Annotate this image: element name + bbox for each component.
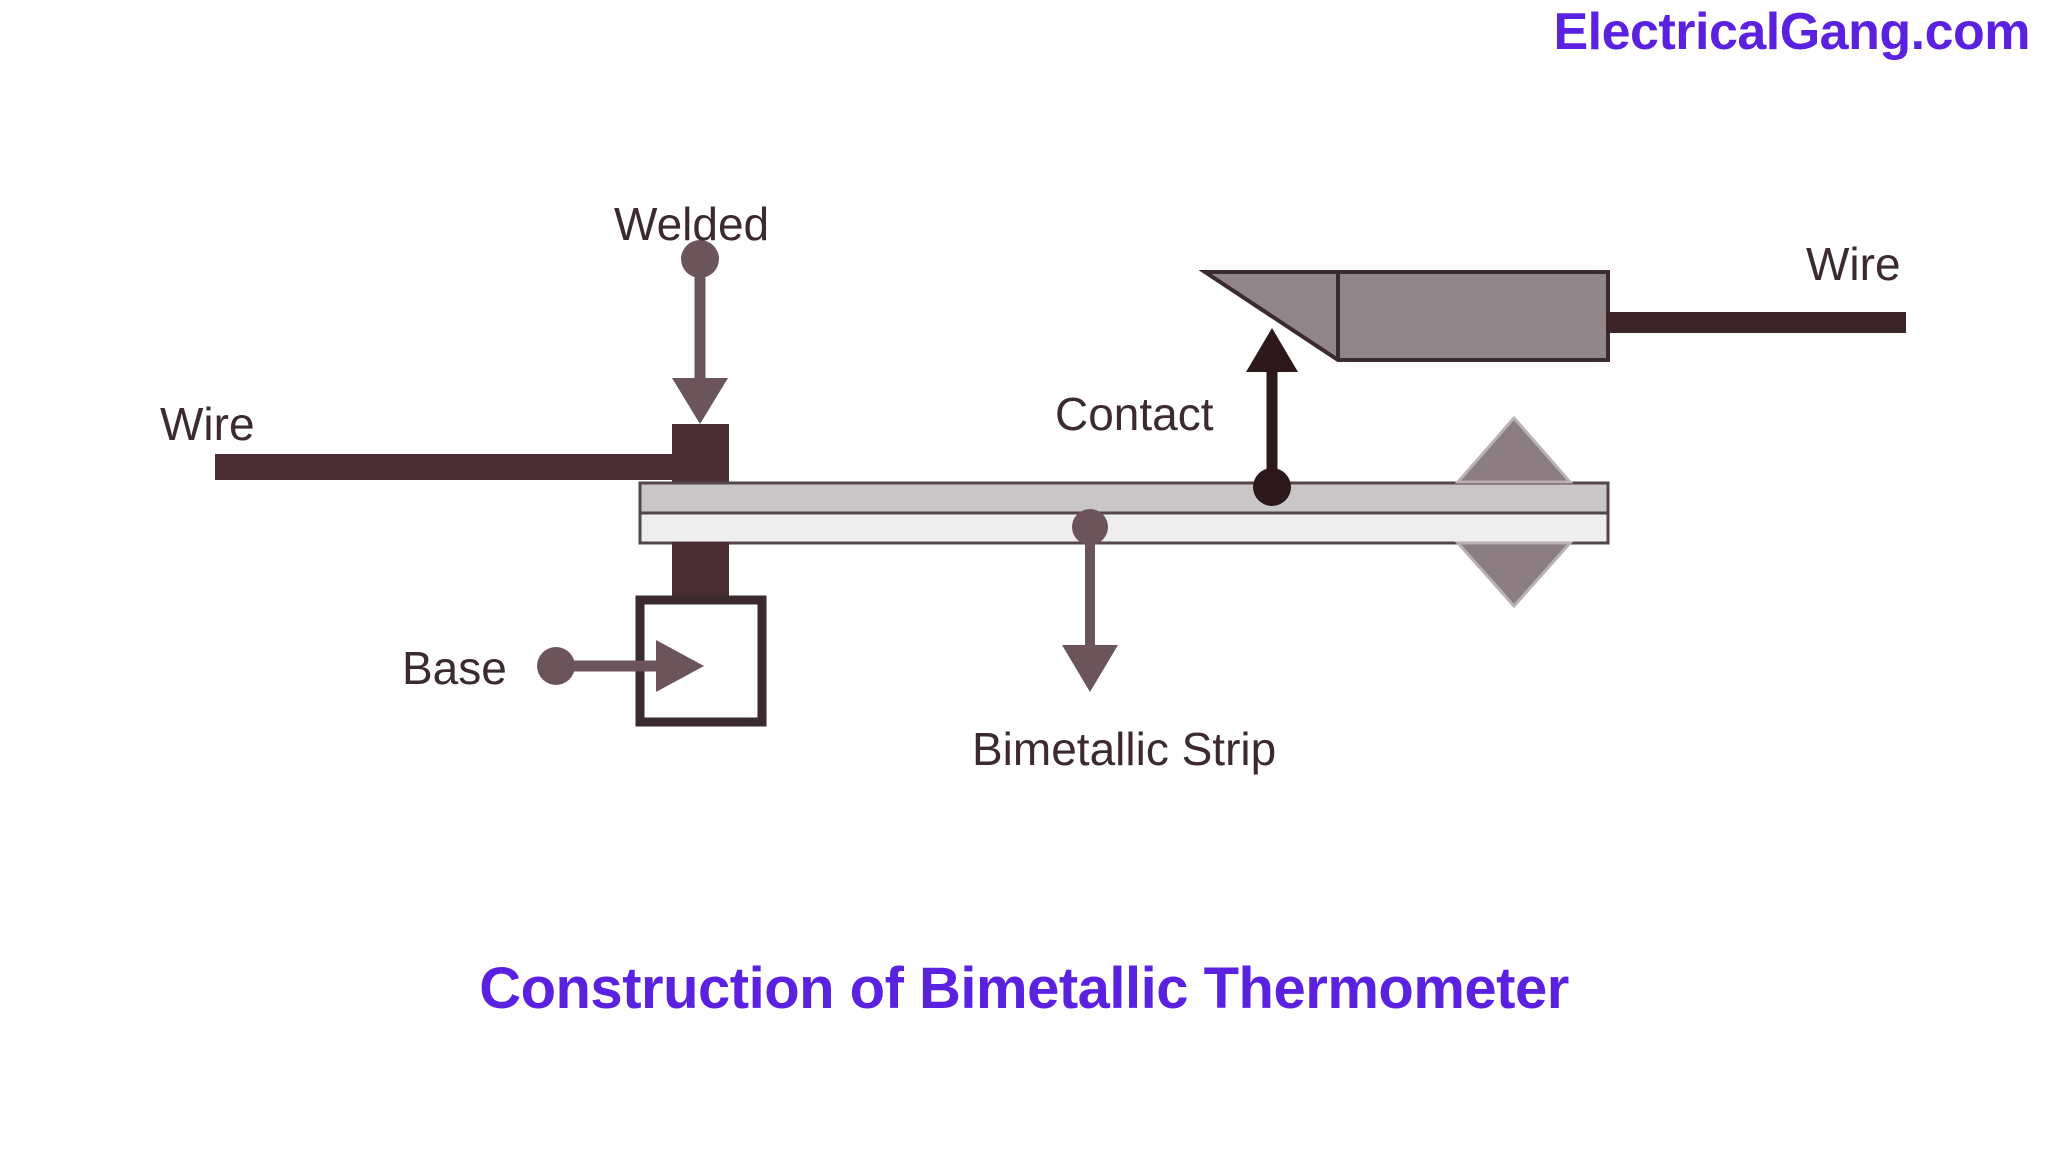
bimetallic-strip-label: Bimetallic Strip [972, 723, 1276, 775]
welded-label: Welded [614, 198, 769, 250]
deflection-arrow-down-icon [1458, 543, 1570, 606]
bimetallic-strip-bottom-layer [640, 513, 1608, 543]
contact-leader-arrowhead [1246, 328, 1298, 372]
welded-leader-arrowhead [672, 378, 728, 424]
bimetallic-strip-top-layer [640, 483, 1608, 513]
wire-left-bar [215, 454, 705, 480]
wire-right-bar [1606, 312, 1906, 333]
diagram-page: ElectricalGang.com Wire Welded [0, 0, 2048, 1152]
wire-left-label: Wire [160, 398, 255, 450]
wire-right-label: Wire [1806, 238, 1901, 290]
base-group: Base [402, 600, 762, 722]
support-post [672, 542, 729, 602]
bimetallic-strip-leader-group: Bimetallic Strip [972, 509, 1276, 775]
base-label: Base [402, 642, 507, 694]
contact-leader-group: Contact [1055, 328, 1298, 506]
wire-left-group: Wire [160, 398, 705, 480]
welded-block [672, 424, 729, 485]
page-title: Construction of Bimetallic Thermometer [0, 955, 2048, 1022]
contact-label: Contact [1055, 388, 1214, 440]
strip-leader-arrowhead [1062, 645, 1118, 692]
bimetallic-strip-group [640, 483, 1608, 543]
deflection-arrow-up-icon [1458, 418, 1570, 482]
welded-leader-group: Welded [614, 198, 769, 424]
wire-right-group: Wire [1606, 238, 1906, 333]
